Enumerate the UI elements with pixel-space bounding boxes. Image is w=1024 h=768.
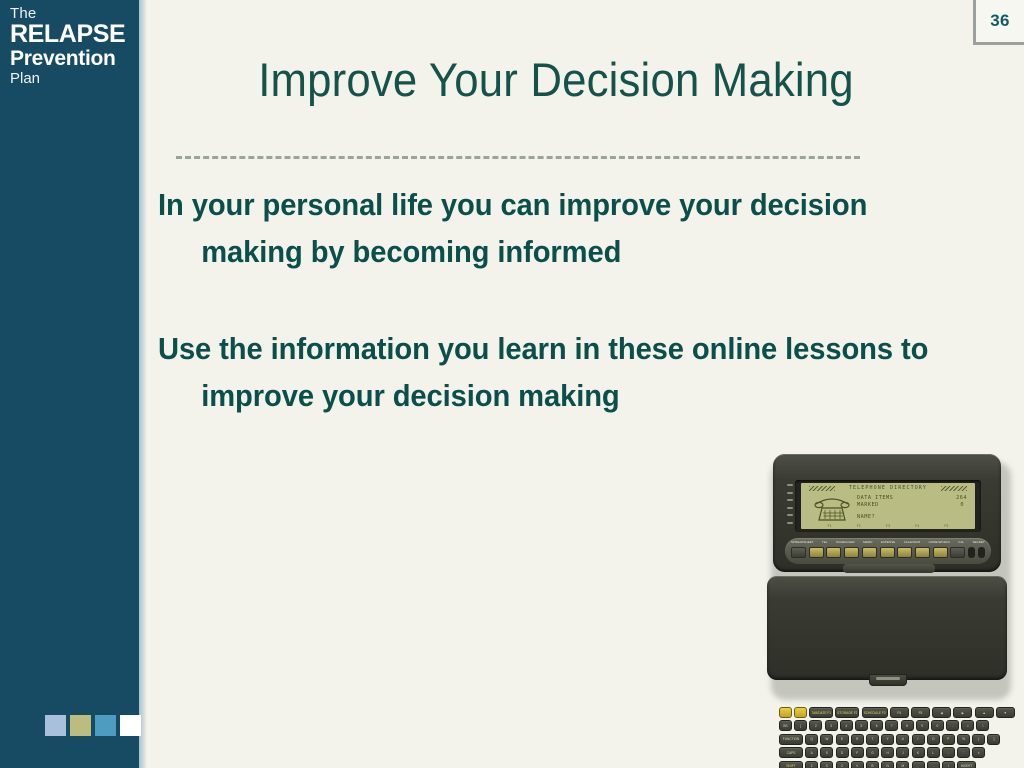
fn-label-memo: MEMO	[863, 540, 872, 544]
lcd-function-key-labels: F1 F2 F3 F4 F5	[801, 524, 975, 528]
device-hinge	[843, 564, 935, 573]
lcd-fkey-4: F4	[915, 524, 919, 528]
logo-line-the: The	[10, 6, 136, 21]
lcd-fkey-1: F1	[828, 524, 832, 528]
lcd-data-items-label: DATA ITEMS	[857, 495, 893, 501]
body-paragraph-2: Use the information you learn in these o…	[158, 325, 938, 419]
device-lid: TELEPHONE DIRECTORY DATA ITEMS 264 MARKE…	[773, 454, 1001, 572]
key-backslash[interactable]: \	[976, 720, 989, 731]
fn-label-calendar: CALENDAR	[904, 540, 921, 544]
key-function[interactable]: FUNCTION	[779, 734, 803, 745]
lcd-header: TELEPHONE DIRECTORY	[801, 485, 975, 491]
page-title: Improve Your Decision Making	[175, 52, 938, 107]
fn-key-home-world[interactable]	[897, 547, 912, 558]
divider	[176, 156, 860, 159]
key-equals[interactable]: =	[961, 720, 974, 731]
fn-key-cal[interactable]	[915, 547, 930, 558]
key-z[interactable]: Z	[805, 761, 818, 768]
key-percent[interactable]: %	[957, 734, 970, 745]
key-shift[interactable]: SHIFT	[779, 761, 803, 768]
key-4[interactable]: 4	[840, 720, 853, 731]
key-f1[interactable]: TAB/DATE F1	[809, 707, 833, 718]
fn-key-memo[interactable]	[844, 547, 859, 558]
key-o[interactable]: O	[927, 734, 940, 745]
device-function-labels: SPREADSHEET TEL SCHEDULER MEMO EXPENSE C…	[791, 540, 985, 544]
fn-label-scheduler: SCHEDULER	[836, 540, 855, 544]
fn-label-expense: EXPENSE	[881, 540, 895, 544]
key-bracket-left[interactable]: [	[972, 734, 985, 745]
key-w[interactable]: W	[820, 734, 833, 745]
sidebar	[0, 0, 139, 768]
key-b[interactable]: B	[866, 761, 879, 768]
swatch-olive	[70, 715, 91, 736]
key-v[interactable]: V	[851, 761, 864, 768]
swatch-row	[45, 715, 141, 736]
key-2[interactable]: 2	[809, 720, 822, 731]
key-n[interactable]: N	[881, 761, 894, 768]
key-f2[interactable]: STORAGE F2	[835, 707, 859, 718]
fn-key-extra[interactable]	[950, 547, 965, 558]
body-content: In your personal life you can improve yo…	[158, 181, 988, 419]
key-s[interactable]: S	[820, 747, 833, 758]
key-insert[interactable]: INSERT	[957, 761, 976, 768]
key-plusminus[interactable]: ±	[972, 747, 985, 758]
lcd-screen: TELEPHONE DIRECTORY DATA ITEMS 264 MARKE…	[801, 483, 975, 529]
fn-label-cal: CAL	[958, 540, 964, 544]
key-l[interactable]: L	[927, 747, 940, 758]
key-arrow-left-icon[interactable]: ◀	[932, 707, 951, 718]
swatch-light-blue	[45, 715, 66, 736]
key-f3[interactable]: SCHEDULE F3	[862, 707, 888, 718]
body-paragraph-1: In your personal life you can improve yo…	[158, 181, 938, 275]
key-f4[interactable]: F4	[890, 707, 909, 718]
key-q[interactable]: Q	[805, 734, 818, 745]
key-7[interactable]: 7	[885, 720, 898, 731]
key-period[interactable]: .	[927, 761, 940, 768]
slide-number-badge: 36	[973, 0, 1024, 45]
key-t[interactable]: T	[866, 734, 879, 745]
lcd-name-prompt: NAME?	[857, 514, 875, 520]
device-base: TAB/DATE F1 STORAGE F2 SCHEDULE F3 F4 F5…	[767, 576, 1007, 680]
key-8[interactable]: 8	[901, 720, 914, 731]
fn-key-calendar[interactable]	[880, 547, 895, 558]
key-1[interactable]: ]	[794, 720, 807, 731]
fn-key-scheduler[interactable]	[826, 547, 841, 558]
fn-key-secret[interactable]	[933, 547, 948, 558]
key-f[interactable]: F	[851, 747, 864, 758]
key-caps[interactable]: CAPS	[779, 747, 803, 758]
device-function-strip: SPREADSHEET TEL SCHEDULER MEMO EXPENSE C…	[785, 538, 991, 564]
key-arrow-down-icon[interactable]: ▼	[996, 707, 1015, 718]
key-u[interactable]: U	[896, 734, 909, 745]
key-bs[interactable]: BS	[779, 720, 792, 731]
logo-line-relapse: RELAPSE	[10, 22, 136, 48]
keyboard-row-function: TAB/DATE F1 STORAGE F2 SCHEDULE F3 F4 F5…	[779, 707, 999, 718]
key-minus[interactable]: -	[946, 720, 959, 731]
keyboard-row-number: BS ] 2 3 4 5 6 7 8 9 0 - = \	[779, 720, 999, 731]
key-c[interactable]: C	[836, 761, 849, 768]
key-a[interactable]: A	[805, 747, 818, 758]
key-arrow-up-icon[interactable]: ▲	[975, 707, 994, 718]
fn-key-tel[interactable]	[809, 547, 824, 558]
lcd-indicator-bars	[787, 484, 793, 524]
device-function-keys	[791, 547, 985, 558]
logo-line-prevention: Prevention	[10, 48, 136, 71]
keyboard-row-home: CAPS A S D F G H J K L ; ' ±	[779, 747, 999, 758]
key-g[interactable]: G	[866, 747, 879, 758]
lcd-fkey-3: F3	[886, 524, 890, 528]
key-off[interactable]	[794, 707, 807, 718]
key-3[interactable]: 3	[825, 720, 838, 731]
swatch-white	[120, 715, 141, 736]
electronic-organizer-image: TELEPHONE DIRECTORY DATA ITEMS 264 MARKE…	[765, 452, 1013, 700]
lcd-bezel: TELEPHONE DIRECTORY DATA ITEMS 264 MARKE…	[795, 480, 981, 532]
key-0[interactable]: 0	[931, 720, 944, 731]
slide: The RELAPSE Prevention Plan 36 Improve Y…	[0, 0, 1024, 768]
key-i[interactable]: I	[912, 734, 925, 745]
lcd-marked-label: MARKED	[857, 502, 879, 508]
logo-line-plan: Plan	[10, 70, 136, 87]
key-y[interactable]: Y	[881, 734, 894, 745]
swatch-blue	[95, 715, 116, 736]
key-e[interactable]: E	[836, 734, 849, 745]
keyboard-row-bottom-letters: SHIFT Z X C V B N M , . / INSERT	[779, 761, 999, 768]
key-power[interactable]	[779, 707, 792, 718]
brand-logo: The RELAPSE Prevention Plan	[10, 6, 136, 87]
key-apostrophe[interactable]: '	[957, 747, 970, 758]
key-9[interactable]: 9	[916, 720, 929, 731]
key-h[interactable]: H	[881, 747, 894, 758]
lcd-fkey-5: F5	[944, 524, 948, 528]
key-5[interactable]: 5	[855, 720, 868, 731]
telephone-icon	[813, 495, 851, 521]
fn-slot-left[interactable]	[968, 547, 975, 558]
key-slash[interactable]: /	[942, 761, 955, 768]
device-latch	[869, 674, 907, 686]
key-j[interactable]: J	[896, 747, 909, 758]
device-keyboard: TAB/DATE F1 STORAGE F2 SCHEDULE F3 F4 F5…	[779, 707, 999, 768]
key-arrow-right-icon[interactable]: ▶	[953, 707, 972, 718]
fn-key-spreadsheet[interactable]	[791, 547, 806, 558]
fn-label-secret: SECRET	[973, 540, 985, 544]
key-m[interactable]: M	[896, 761, 909, 768]
lcd-data-items-value: 264	[956, 495, 967, 501]
sidebar-edge-highlight	[139, 0, 146, 768]
keyboard-row-qwerty: FUNCTION Q W E R T Y U I O P % [ ]	[779, 734, 999, 745]
key-bracket-right[interactable]: ]	[987, 734, 1000, 745]
lcd-fkey-2: F2	[857, 524, 861, 528]
fn-key-expense[interactable]	[862, 547, 877, 558]
slide-number: 36	[990, 11, 1010, 31]
fn-slot-right[interactable]	[978, 547, 985, 558]
key-comma[interactable]: ,	[912, 761, 925, 768]
key-semicolon[interactable]: ;	[942, 747, 955, 758]
fn-label-tel: TEL	[822, 540, 828, 544]
key-p[interactable]: P	[942, 734, 955, 745]
key-r[interactable]: R	[851, 734, 864, 745]
key-d[interactable]: D	[836, 747, 849, 758]
key-k[interactable]: K	[912, 747, 925, 758]
fn-label-spreadsheet: SPREADSHEET	[791, 540, 814, 544]
fn-label-home-world: HOME/WORLD	[929, 540, 950, 544]
key-6[interactable]: 6	[870, 720, 883, 731]
key-x[interactable]: X	[820, 761, 833, 768]
lcd-marked-value: 0	[960, 502, 964, 508]
key-f5[interactable]: F5	[911, 707, 930, 718]
